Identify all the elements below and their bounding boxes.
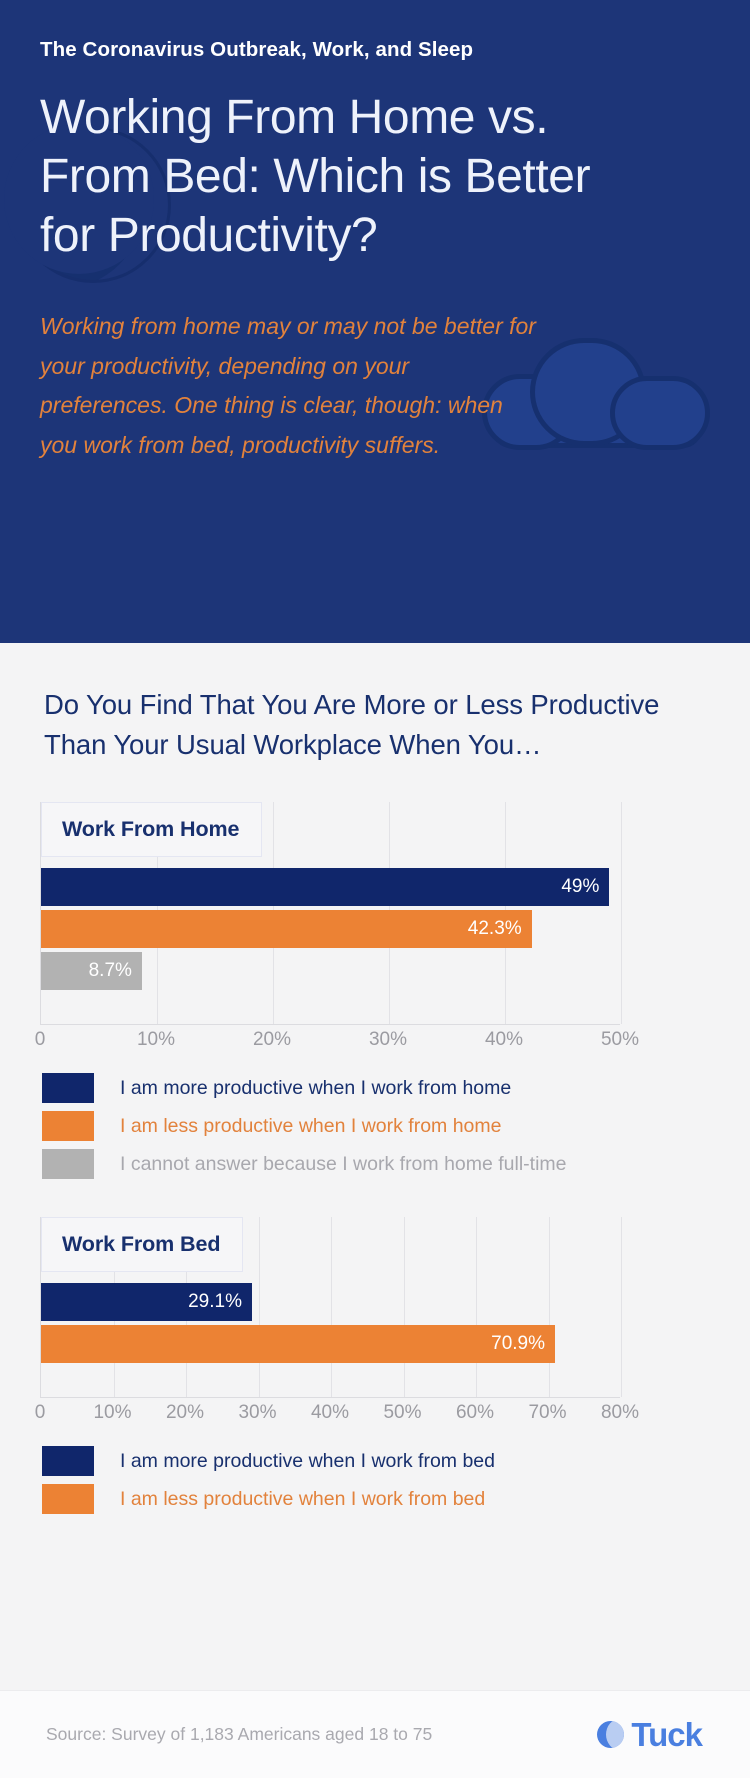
axis-tick-label: 10%	[93, 1402, 131, 1424]
gridline	[621, 802, 622, 1024]
axis-tick-label: 50%	[383, 1402, 421, 1424]
legend-item: I cannot answer because I work from home…	[42, 1149, 750, 1179]
axis-tick-label: 20%	[253, 1029, 291, 1051]
main-content: Do You Find That You Are More or Less Pr…	[0, 643, 750, 1514]
legend-label: I cannot answer because I work from home…	[120, 1153, 567, 1176]
legend-label: I am more productive when I work from ho…	[120, 1077, 511, 1100]
footer-bar: Source: Survey of 1,183 Americans aged 1…	[0, 1690, 750, 1778]
header-banner: The Coronavirus Outbreak, Work, and Slee…	[0, 0, 750, 643]
header-subhead: Working from home may or may not be bett…	[40, 307, 540, 465]
chart-title-work-from-bed: Work From Bed	[41, 1217, 243, 1272]
chart-title-work-from-home: Work From Home	[41, 802, 262, 857]
legend-item: I am less productive when I work from ho…	[42, 1111, 750, 1141]
chart-plot-area: Work From Bed 29.1% 70.9%	[40, 1217, 620, 1398]
legend-swatch-orange-icon	[42, 1111, 94, 1141]
legend-swatch-navy-icon	[42, 1073, 94, 1103]
legend-item: I am more productive when I work from be…	[42, 1446, 750, 1476]
axis-tick-label: 0	[35, 1402, 46, 1424]
legend-swatch-gray-icon	[42, 1149, 94, 1179]
legend-item: I am more productive when I work from ho…	[42, 1073, 750, 1103]
axis-tick-label: 30%	[369, 1029, 407, 1051]
bar-row: 70.9%	[41, 1325, 620, 1363]
bar-row: 29.1%	[41, 1283, 620, 1321]
legend-label: I am less productive when I work from ho…	[120, 1115, 501, 1138]
moon-icon	[597, 1721, 624, 1748]
bar-row: 42.3%	[41, 910, 620, 948]
chart-x-axis: 010%20%30%40%50%	[40, 1025, 620, 1059]
chart-plot-area: Work From Home 49% 42.3% 8.7%	[40, 802, 620, 1025]
bar-less-productive-bed: 70.9%	[41, 1325, 555, 1363]
axis-tick-label: 60%	[456, 1402, 494, 1424]
axis-tick-label: 70%	[528, 1402, 566, 1424]
gridline	[621, 1217, 622, 1397]
legend-label: I am more productive when I work from be…	[120, 1450, 495, 1473]
source-note: Source: Survey of 1,183 Americans aged 1…	[46, 1724, 432, 1745]
bar-cannot-answer-home: 8.7%	[41, 952, 142, 990]
axis-tick-label: 30%	[238, 1402, 276, 1424]
tuck-logo[interactable]: Tuck	[597, 1716, 702, 1754]
chart-x-axis: 010%20%30%40%50%60%70%80%	[40, 1398, 620, 1432]
bar-more-productive-bed: 29.1%	[41, 1283, 252, 1321]
logo-wordmark: Tuck	[631, 1716, 702, 1754]
axis-tick-label: 10%	[137, 1029, 175, 1051]
axis-tick-label: 40%	[485, 1029, 523, 1051]
section-question: Do You Find That You Are More or Less Pr…	[0, 643, 750, 764]
legend-item: I am less productive when I work from be…	[42, 1484, 750, 1514]
axis-tick-label: 50%	[601, 1029, 639, 1051]
axis-tick-label: 20%	[166, 1402, 204, 1424]
bar-row: 8.7%	[41, 952, 620, 990]
bar-row: 49%	[41, 868, 620, 906]
legend-swatch-orange-icon	[42, 1484, 94, 1514]
eyebrow-text: The Coronavirus Outbreak, Work, and Slee…	[40, 38, 710, 62]
axis-tick-label: 40%	[311, 1402, 349, 1424]
chart-work-from-home: Work From Home 49% 42.3% 8.7% 010%20%30%…	[0, 802, 750, 1179]
axis-tick-label: 0	[35, 1029, 46, 1051]
chart-legend-bed: I am more productive when I work from be…	[42, 1446, 750, 1514]
bar-less-productive-home: 42.3%	[41, 910, 532, 948]
legend-swatch-navy-icon	[42, 1446, 94, 1476]
legend-label: I am less productive when I work from be…	[120, 1488, 485, 1511]
axis-tick-label: 80%	[601, 1402, 639, 1424]
page-title: Working From Home vs. From Bed: Which is…	[40, 88, 640, 265]
chart-work-from-bed: Work From Bed 29.1% 70.9% 010%20%30%40%5…	[0, 1217, 750, 1514]
bar-more-productive-home: 49%	[41, 868, 609, 906]
chart-legend-home: I am more productive when I work from ho…	[42, 1073, 750, 1179]
